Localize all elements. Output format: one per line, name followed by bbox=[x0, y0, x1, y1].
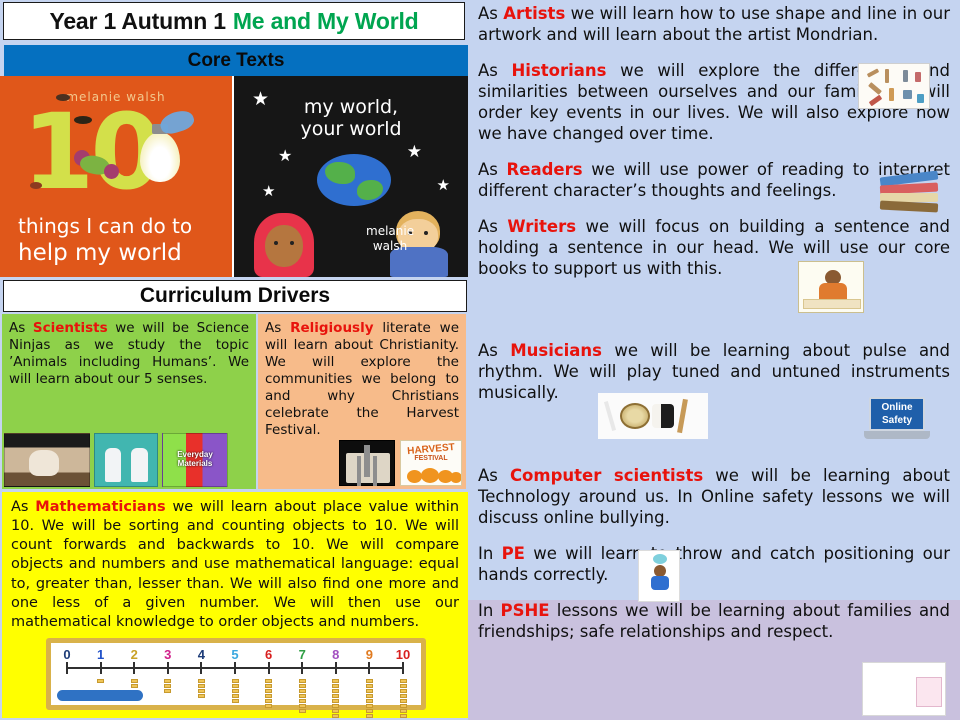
driver-body: literate we will learn about Christianit… bbox=[265, 320, 459, 438]
subject-keyword-reading: Readers bbox=[507, 160, 583, 179]
online-safety-line2: Safety bbox=[871, 415, 923, 428]
number-line-label: 9 bbox=[366, 647, 373, 662]
bug-icon bbox=[30, 182, 42, 189]
number-line-label: 2 bbox=[131, 647, 138, 662]
child-catching-ball-icon bbox=[638, 550, 680, 602]
number-line-tick bbox=[335, 662, 337, 674]
subject-keyword-art: Artists bbox=[503, 4, 565, 23]
driver-panel-religious-education: As Religiously literate we will learn ab… bbox=[258, 314, 466, 489]
old-household-objects-collage-icon bbox=[858, 63, 930, 109]
subject-keyword-music: Musicians bbox=[510, 341, 602, 360]
page-title: Year 1 Autumn 1 Me and My World bbox=[3, 2, 465, 40]
everyday-materials-poster-icon: Everyday Materials bbox=[162, 433, 228, 487]
book-big-number: 10 bbox=[22, 100, 159, 204]
number-line-label: 0 bbox=[63, 647, 70, 662]
number-line-tick bbox=[402, 662, 404, 674]
re-thumbnails: HARVEST FESTIVAL bbox=[339, 438, 462, 486]
driver-science-text: As Scientists we will be Science Ninjas … bbox=[9, 320, 249, 388]
number-line-label: 1 bbox=[97, 647, 104, 662]
title-topic: Me and My World bbox=[233, 8, 419, 35]
harvest-festival-poster-icon: HARVEST FESTIVAL bbox=[400, 440, 462, 486]
number-line-tick bbox=[368, 662, 370, 674]
book-title-line1: my world, bbox=[234, 96, 468, 118]
text-prefix: In bbox=[478, 601, 501, 620]
number-line-tick bbox=[200, 662, 202, 674]
star-icon: ★ bbox=[262, 184, 275, 199]
text-prefix: In bbox=[478, 544, 502, 563]
subject-keyword-pshe: PSHE bbox=[501, 601, 550, 620]
subject-pe: In PE we will learn to throw and catch p… bbox=[478, 544, 950, 586]
number-line-counters bbox=[297, 679, 307, 713]
driver-keyword: Mathematicians bbox=[35, 499, 165, 515]
driver-panel-mathematics: As Mathematicians we will learn about pl… bbox=[2, 492, 468, 718]
text-prefix: As bbox=[478, 466, 510, 485]
number-line-counters bbox=[96, 679, 106, 683]
book-title: my world, your world bbox=[234, 96, 468, 141]
subject-keyword-computing: Computer scientists bbox=[510, 466, 703, 485]
driver-panel-science: As Scientists we will be Science Ninjas … bbox=[2, 314, 258, 489]
number-line-tick bbox=[66, 662, 68, 674]
number-line-counters bbox=[163, 679, 173, 693]
title-year-term: Year 1 Autumn 1 bbox=[49, 8, 225, 35]
child-illustration-left bbox=[254, 213, 314, 277]
text-prefix: As bbox=[478, 341, 510, 360]
stack-of-books-icon bbox=[880, 174, 942, 214]
child-writing-icon bbox=[798, 261, 864, 313]
number-line-tick bbox=[234, 662, 236, 674]
scientists-illustration-icon bbox=[94, 433, 158, 487]
text-prefix: As bbox=[11, 499, 35, 515]
number-line-graphic: 012345678910 bbox=[46, 638, 426, 710]
driver-re-text: As Religiously literate we will learn ab… bbox=[265, 320, 459, 439]
earth-globe-icon bbox=[317, 154, 391, 206]
star-icon: ★ bbox=[252, 90, 269, 109]
book-title-line2: your world bbox=[234, 118, 468, 140]
text-prefix: As bbox=[9, 320, 33, 336]
text-prefix: As bbox=[478, 4, 503, 23]
subject-keyword-history: Historians bbox=[512, 61, 607, 80]
bible-and-cross-icon bbox=[339, 440, 395, 486]
text-prefix: As bbox=[265, 320, 290, 336]
book-title-line2: help my world bbox=[18, 240, 228, 266]
subject-body-pe: we will learn to throw and catch positio… bbox=[478, 544, 950, 584]
core-texts-label: Core Texts bbox=[188, 50, 285, 72]
number-line-tick bbox=[167, 662, 169, 674]
book-author-line1: melanie bbox=[366, 224, 414, 240]
curriculum-drivers-header: Curriculum Drivers bbox=[3, 280, 467, 312]
book-cover-my-world-your-world: my world, your world ★ ★ ★ ★ ★ bbox=[232, 76, 468, 277]
star-icon: ★ bbox=[407, 144, 422, 161]
number-line-label: 3 bbox=[164, 647, 171, 662]
number-line-counters bbox=[230, 679, 240, 703]
group-of-children-icon bbox=[862, 662, 946, 716]
bug-icon bbox=[56, 94, 70, 101]
book-title-line1: things I can do to bbox=[18, 214, 218, 238]
subject-writing: As Writers we will focus on building a s… bbox=[478, 217, 950, 280]
book-author-line2: walsh bbox=[366, 239, 414, 255]
subject-reading: As Readers we will use power of reading … bbox=[478, 160, 950, 202]
number-line-label: 6 bbox=[265, 647, 272, 662]
number-line-watermark bbox=[57, 690, 143, 701]
lightbulb-icon bbox=[140, 132, 180, 182]
book-cover-10-things: melanie walsh 10 things I can do to help… bbox=[0, 76, 232, 277]
percussion-instruments-icon bbox=[598, 393, 708, 439]
number-line-tick bbox=[133, 662, 135, 674]
science-lab-photo-icon bbox=[4, 433, 90, 487]
driver-keyword: Scientists bbox=[33, 320, 108, 336]
butterfly-icon bbox=[158, 107, 197, 137]
star-icon: ★ bbox=[278, 148, 292, 164]
harvest-subtitle: FESTIVAL bbox=[401, 455, 461, 462]
subject-music: As Musicians we will be learning about p… bbox=[478, 341, 950, 404]
book-author: melanie walsh bbox=[366, 224, 414, 255]
driver-body: we will learn about place value within 1… bbox=[11, 499, 459, 630]
text-prefix: As bbox=[478, 160, 507, 179]
text-prefix: As bbox=[478, 217, 507, 236]
number-line-counters bbox=[264, 679, 274, 708]
subject-body-pshe: lessons we will be learning about famili… bbox=[478, 601, 950, 641]
subject-pshe: In PSHE lessons we will be learning abou… bbox=[478, 601, 950, 643]
subject-art: As Artists we will learn how to use shap… bbox=[478, 4, 950, 46]
curriculum-drivers-label: Curriculum Drivers bbox=[140, 284, 330, 308]
driver-keyword: Religiously bbox=[290, 320, 373, 336]
number-line-label: 4 bbox=[198, 647, 205, 662]
number-line-label: 10 bbox=[396, 647, 410, 662]
core-texts-covers: melanie walsh 10 things I can do to help… bbox=[0, 76, 468, 277]
science-thumbnails: Everyday Materials bbox=[4, 433, 254, 487]
left-column: Year 1 Autumn 1 Me and My World Core Tex… bbox=[0, 0, 468, 720]
subject-keyword-pe: PE bbox=[502, 544, 525, 563]
number-line-counters bbox=[331, 679, 341, 718]
number-line-label: 8 bbox=[332, 647, 339, 662]
everyday-materials-label: Everyday Materials bbox=[163, 451, 227, 469]
number-line-counters bbox=[364, 679, 374, 718]
curriculum-overview-page: Year 1 Autumn 1 Me and My World Core Tex… bbox=[0, 0, 960, 720]
butterfly-wing2-icon bbox=[104, 164, 119, 179]
number-line-tick bbox=[100, 662, 102, 674]
number-line-label: 5 bbox=[231, 647, 238, 662]
core-texts-header: Core Texts bbox=[4, 45, 468, 76]
star-icon: ★ bbox=[437, 178, 450, 193]
online-safety-laptop-icon: Online Safety bbox=[864, 397, 930, 447]
curriculum-drivers-row: As Scientists we will be Science Ninjas … bbox=[2, 314, 468, 489]
number-line-label: 7 bbox=[299, 647, 306, 662]
number-line-counters bbox=[129, 679, 139, 688]
bug-icon bbox=[74, 116, 92, 124]
number-line-tick bbox=[301, 662, 303, 674]
subject-history: As Historians we will explore the differ… bbox=[478, 61, 950, 145]
number-line-counters bbox=[398, 679, 408, 718]
driver-maths-text: As Mathematicians we will learn about pl… bbox=[11, 498, 459, 632]
text-prefix: As bbox=[478, 61, 512, 80]
online-safety-line1: Online bbox=[871, 402, 923, 415]
subject-computing: As Computer scientists we will be learni… bbox=[478, 466, 950, 529]
number-line-counters bbox=[196, 679, 206, 698]
right-column-subjects: As Artists we will learn how to use shap… bbox=[468, 0, 960, 720]
number-line-tick bbox=[268, 662, 270, 674]
subject-keyword-writing: Writers bbox=[507, 217, 576, 236]
